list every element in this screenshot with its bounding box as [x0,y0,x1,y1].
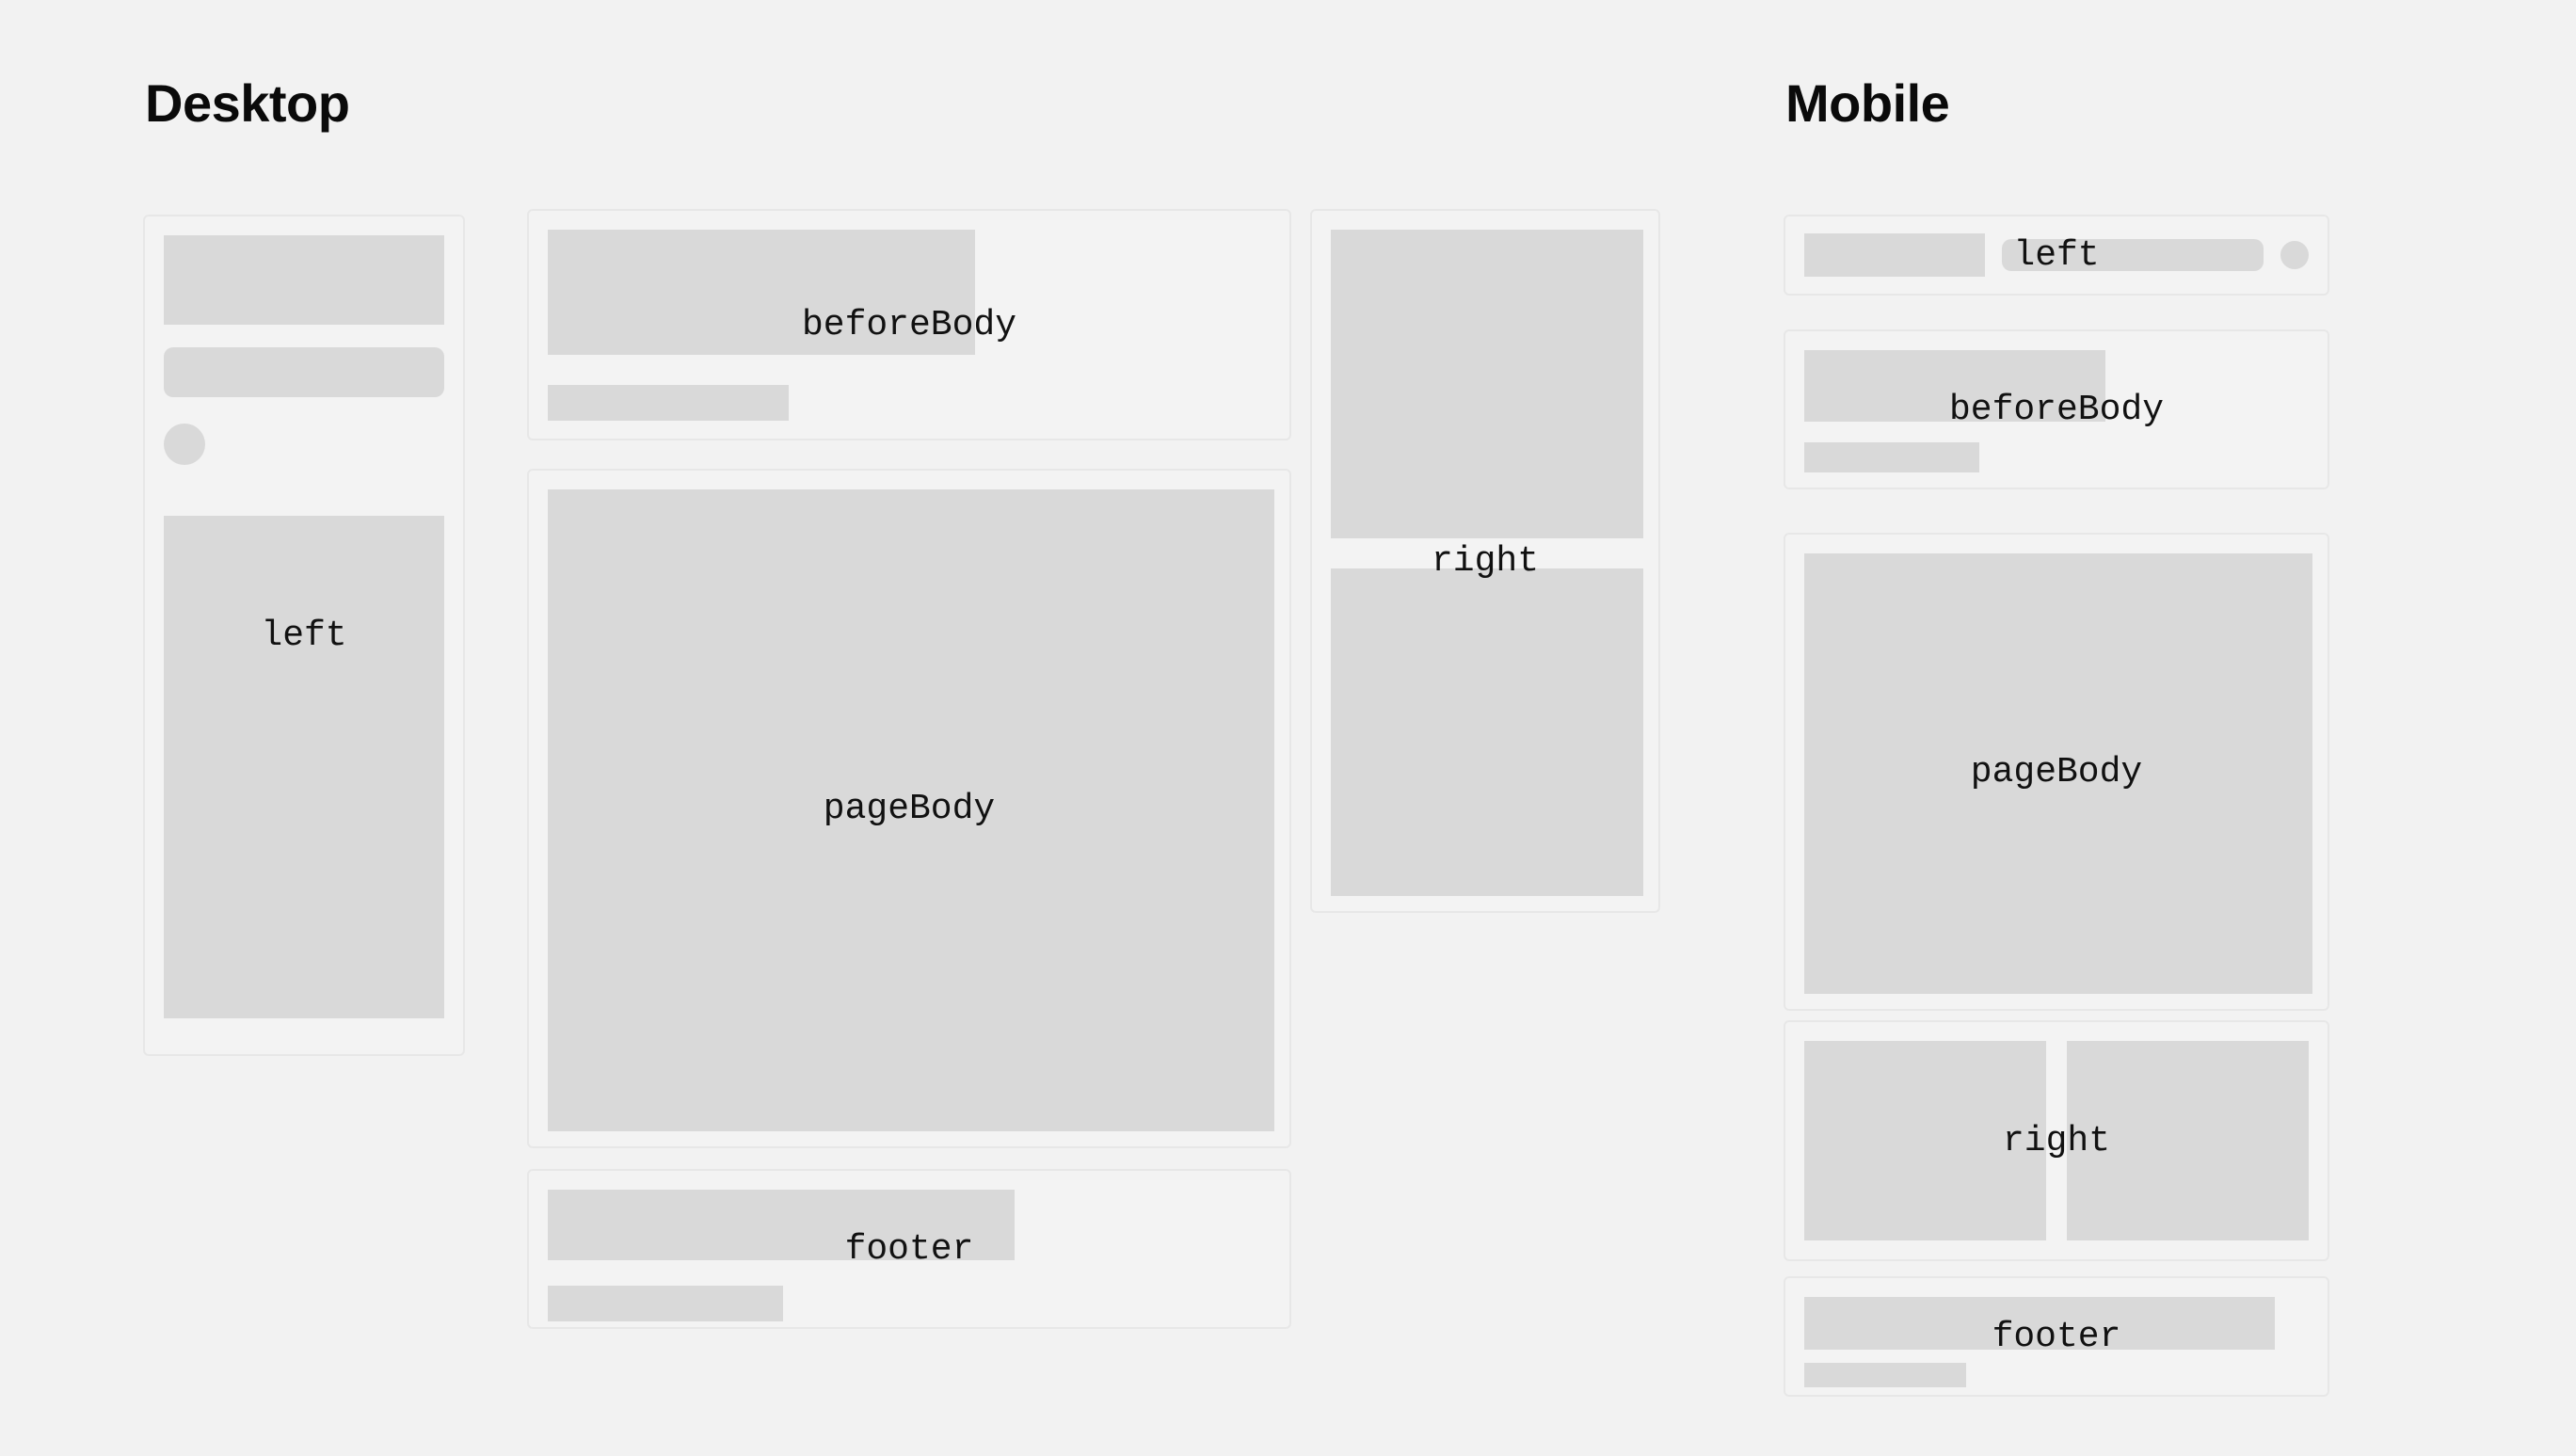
mobile-slot-pagebody-panel[interactable]: pageBody [1784,533,2329,1011]
skeleton-block-pill [164,347,444,397]
desktop-slot-beforebody-panel[interactable]: beforeBody [527,209,1291,440]
skeleton-block-rect [164,235,444,325]
mobile-footer-skeleton-group [1785,1278,2328,1395]
skeleton-block-pill [2002,239,2264,271]
skeleton-block-bar [1804,442,1979,472]
desktop-slot-right-panel[interactable]: right [1310,209,1660,913]
wireframe-preview-stage: Desktop Mobile left beforeBody pageBody … [0,0,2576,1456]
mobile-slot-footer-panel[interactable]: footer [1784,1276,2329,1397]
skeleton-block-lower [1331,568,1643,896]
desktop-pagebody-skeleton-group [529,471,1289,1146]
desktop-beforebody-skeleton-group [529,211,1289,439]
skeleton-block-large [548,489,1274,1131]
skeleton-block-rect [548,1190,1015,1260]
mobile-beforebody-skeleton-group [1785,331,2328,488]
desktop-slot-footer-panel[interactable]: footer [527,1169,1291,1329]
desktop-section-heading: Desktop [145,77,349,130]
mobile-slot-left-panel[interactable]: left [1784,215,2329,296]
mobile-right-skeleton-group [1804,1041,2309,1240]
desktop-slot-pagebody-panel[interactable]: pageBody [527,469,1291,1148]
skeleton-block-right-half [2067,1041,2309,1240]
skeleton-block-large [1804,553,2312,994]
skeleton-block-bar [1804,1363,1966,1387]
mobile-pagebody-skeleton-group [1785,535,2328,1009]
skeleton-block-rect [548,230,975,355]
skeleton-block-bar [548,1286,783,1321]
skeleton-block-tall [164,516,444,1018]
skeleton-block-circle [164,424,205,465]
desktop-footer-skeleton-group [529,1171,1289,1327]
desktop-left-skeleton-group [145,216,463,1054]
desktop-right-skeleton-group [1312,211,1658,911]
skeleton-block-bar [548,385,789,421]
skeleton-block-left-half [1804,1041,2046,1240]
mobile-slot-right-panel[interactable]: right [1784,1020,2329,1261]
mobile-slot-beforebody-panel[interactable]: beforeBody [1784,329,2329,489]
mobile-section-heading: Mobile [1785,77,1949,130]
skeleton-block-rect [1804,1297,2275,1350]
mobile-left-skeleton-group [1804,235,2309,275]
skeleton-block-upper [1331,230,1643,538]
skeleton-block-rect [1804,350,2105,422]
skeleton-block-circle [2280,241,2309,269]
skeleton-block-rect [1804,233,1985,277]
desktop-slot-left-panel[interactable]: left [143,215,465,1056]
